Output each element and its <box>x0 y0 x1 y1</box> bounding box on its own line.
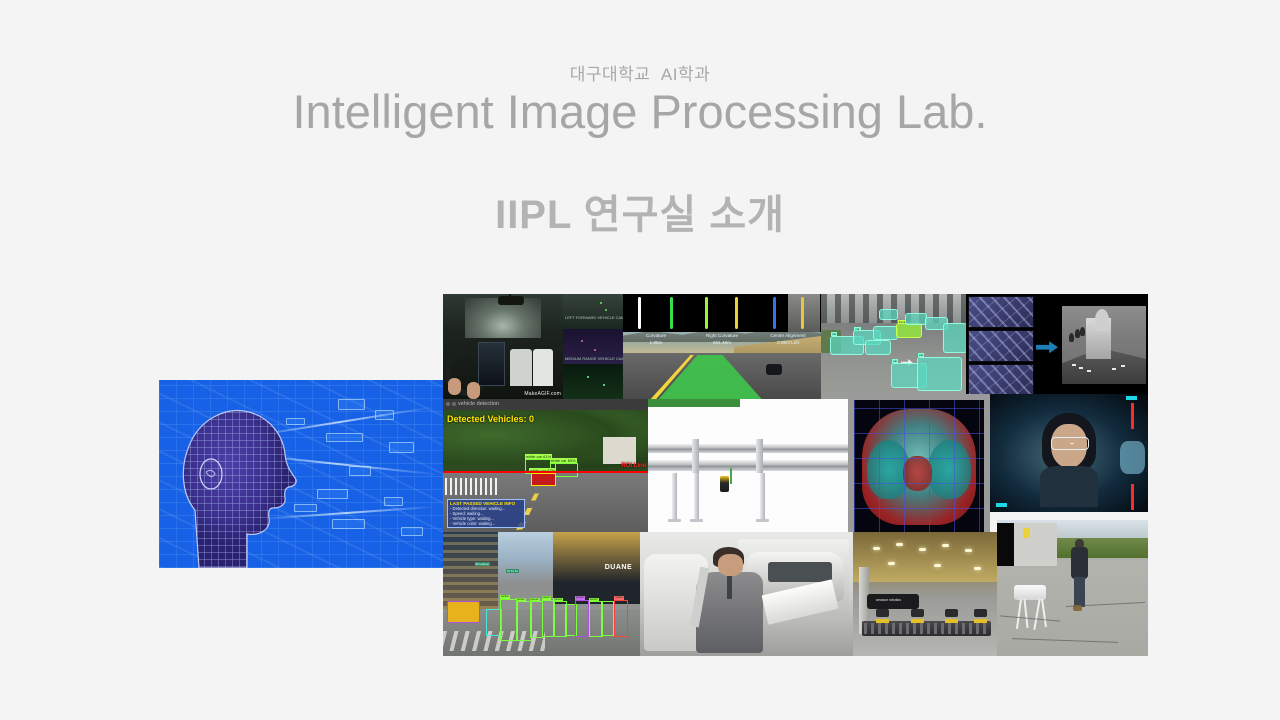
window-titlebar: vehicle detection <box>443 399 648 410</box>
presentation-slide: 대구대학교 AI학과 Intelligent Image Processing … <box>0 0 1280 720</box>
collage-tile-amazon-robotics-warehouse: amazon robotics <box>853 532 997 656</box>
department-label: 대구대학교 AI학과 <box>0 60 1280 85</box>
lane-metrics: Curvature1.95m Right Curvature651.48m Ce… <box>623 333 821 350</box>
collage-tile-pedestrian-detection-nyc: DUANE Broadway W 44 St person person per… <box>443 532 640 656</box>
detection-label-1: white car 61% <box>525 454 552 459</box>
lane-curvature-strip <box>623 294 821 332</box>
collage-tile-satellite-aerial-imagery <box>966 294 1034 399</box>
collage-tile-3d-city-reconstruction <box>1034 294 1148 399</box>
metric-label-right-curvature: Right Curvature <box>706 333 738 338</box>
store-sign-text: DUANE <box>605 564 632 571</box>
collage-tile-quadruped-robot-spot <box>997 520 1148 656</box>
roi-line <box>443 471 648 473</box>
collage-tile-autonomous-car-passenger <box>640 532 853 656</box>
eyeglasses-icon <box>1051 437 1088 449</box>
lab-title: Intelligent Image Processing Lab. <box>0 84 1280 140</box>
metric-value-right-curvature: 651.48m <box>713 340 731 345</box>
window-dot-icon-2 <box>452 402 456 406</box>
quadruped-robot-figure <box>1012 585 1051 631</box>
detection-label-2: white car 83% <box>550 458 577 463</box>
collage-tile-lane-detection-highway: Curvature1.95m Right Curvature651.48m Ce… <box>623 294 821 399</box>
window-dot-icon <box>446 402 450 406</box>
collage-tile-face-recognition-video <box>990 394 1148 512</box>
collage-tile-parking-lot-vehicle-segmentation: car car truck car car <box>821 294 966 399</box>
collage-tile-tesla-autopilot-cabin: MakeAGIF.com <box>443 294 563 399</box>
metric-value-curvature: 1.95m <box>650 340 663 345</box>
detected-vehicles-text: Detected Vehicles: 0 <box>447 414 534 424</box>
info-line-4: - Vehicle color: waiting... <box>450 521 495 526</box>
collage-tile-ct-medical-scan <box>848 394 990 540</box>
roi-line-label: ROI Line <box>621 463 646 469</box>
wireframe-head-figure <box>159 384 345 568</box>
last-passed-vehicle-info: LAST PASSED VEHICLE INFO - Detected dire… <box>447 499 525 528</box>
process-arrow-icon <box>1036 341 1058 353</box>
collage-tile-vehicle-detection-window: vehicle detection Detected Vehicles: 0 w… <box>443 399 648 532</box>
collage-tile-lidar-point-cloud: LEFT FORWARD VEHICLE CAMERA MEDIUM RANGE… <box>563 294 623 399</box>
collage-tile-guardrail-3d-cad <box>648 399 848 532</box>
walking-person-figure <box>1069 539 1089 612</box>
metric-label-curvature: Curvature <box>646 333 666 338</box>
metric-value-center-alignment: 0.05m Left <box>777 340 799 345</box>
image-credit: MakeAGIF.com <box>524 391 561 397</box>
ai-wireframe-head-image <box>159 380 447 568</box>
lidar-label-top: LEFT FORWARD VEHICLE CAMERA <box>565 315 623 320</box>
window-title: vehicle detection <box>458 401 499 407</box>
lidar-label-mid: MEDIUM RANGE VEHICLE CAMERA <box>565 356 623 361</box>
metric-label-center-alignment: Center Alignment <box>770 333 805 338</box>
image-collage: MakeAGIF.com LEFT FORWARD VEHICLE CAMERA… <box>443 294 1148 656</box>
page-title: IIPL 연구실 소개 <box>0 182 1280 240</box>
